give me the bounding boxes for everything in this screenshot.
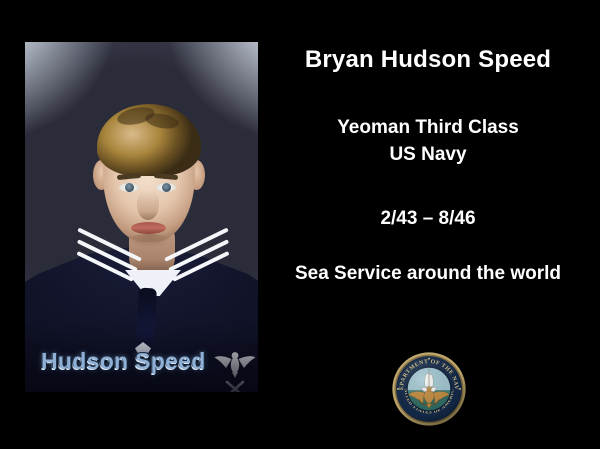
portrait-eye-left [119,183,139,192]
veteran-service-note: Sea Service around the world [268,263,588,285]
veteran-name: Bryan Hudson Speed [268,46,588,74]
portrait-lips [131,222,166,234]
department-of-the-navy-seal-icon: DEPARTMENT OF THE NAVY UNITED STATES OF … [392,352,466,426]
veteran-service-dates: 2/43 – 8/46 [268,208,588,230]
uniform-collar-piping-left [71,254,149,298]
photo-caption-overlay: Hudson Speed [41,348,206,375]
portrait-eye-right [156,183,176,192]
veteran-rank-branch: Yeoman Third Class US Navy [268,114,588,168]
memorial-slide: Hudson Speed Bryan Hudson Speed Yeoman T… [0,0,600,449]
portrait-nose [137,190,159,220]
portrait-iris-right [162,183,171,192]
veteran-info-block: Bryan Hudson Speed Yeoman Third Class US… [268,46,588,285]
uniform-collar-piping-right [157,254,235,298]
veteran-branch: US Navy [268,141,588,168]
veteran-portrait-photo: Hudson Speed [25,42,258,392]
veteran-rank: Yeoman Third Class [268,114,588,141]
portrait-chin-shadow [125,234,173,248]
portrait-iris-left [125,183,134,192]
